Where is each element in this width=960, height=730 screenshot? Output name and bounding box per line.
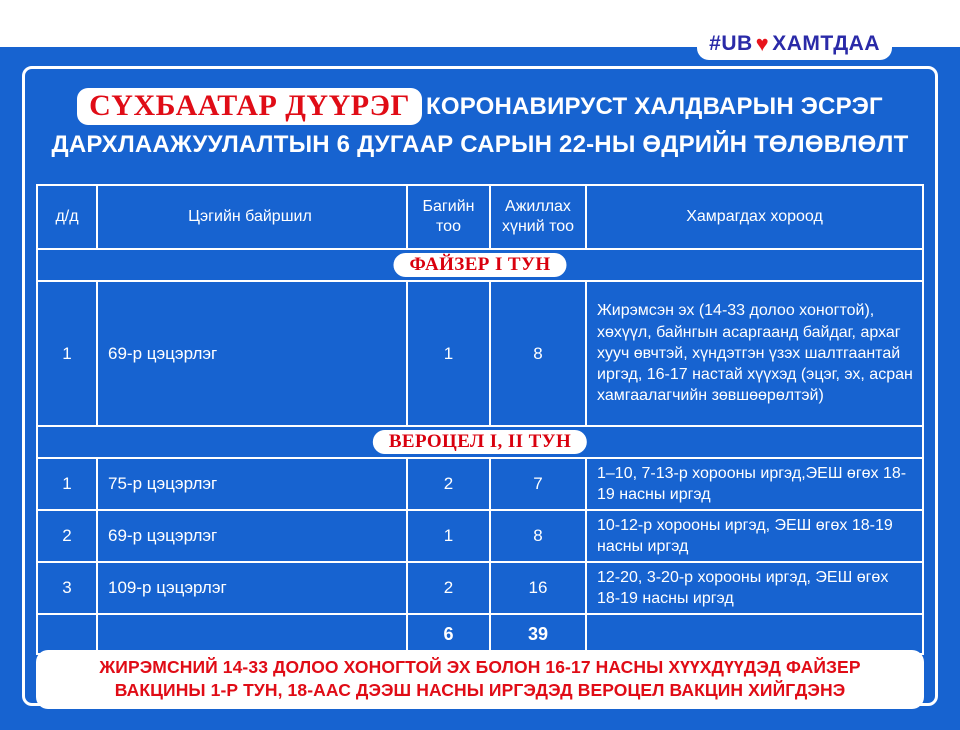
schedule-table: д/д Цэгийн байршил Багийн тоо Ажиллах хү… xyxy=(36,184,924,655)
row-location: 69-р цэцэрлэг xyxy=(96,282,406,425)
row-location: 75-р цэцэрлэг xyxy=(96,459,406,509)
row-staff: 8 xyxy=(489,282,585,425)
banner-line-1: ЖИРЭМСНИЙ 14-33 ДОЛОО ХОНОГТОЙ ЭХ БОЛОН … xyxy=(46,656,914,679)
row-staff: 8 xyxy=(489,511,585,561)
table-row: 1 75-р цэцэрлэг 2 7 1–10, 7-13-р хорооны… xyxy=(38,457,922,509)
hashtag-suffix: ХАМТДАА xyxy=(772,32,880,56)
header-team-count-line1: Багийн xyxy=(423,197,475,217)
header-staff-count-line2: хүний тоо xyxy=(502,217,574,237)
title-line-1: СҮХБААТАР ДҮҮРЭГ КОРОНАВИРУСТ ХАЛДВАРЫН … xyxy=(34,88,926,125)
table-header-row: д/д Цэгийн байршил Багийн тоо Ажиллах хү… xyxy=(38,186,922,248)
hashtag-badge: #UB ♥ ХАМТДАА xyxy=(697,29,892,60)
row-khoroo: 1–10, 7-13-р хорооны иргэд,ЭЕШ өгөх 18-1… xyxy=(585,459,922,509)
table-total-row: 6 39 xyxy=(38,613,922,653)
row-no: 1 xyxy=(38,459,96,509)
header-team-count-line2: тоо xyxy=(436,217,461,237)
row-team: 1 xyxy=(406,282,489,425)
total-khoroo xyxy=(585,615,922,653)
table-row: 3 109-р цэцэрлэг 2 16 12-20, 3-20-р хоро… xyxy=(38,561,922,613)
section-badge-pfizer: ФАЙЗЕР I ТУН xyxy=(393,253,566,278)
header-staff-count: Ажиллах хүний тоо xyxy=(489,186,585,248)
row-location: 109-р цэцэрлэг xyxy=(96,563,406,613)
header-staff-count-line1: Ажиллах xyxy=(505,197,571,217)
heart-icon: ♥ xyxy=(756,33,770,55)
bottom-notice-banner: ЖИРЭМСНИЙ 14-33 ДОЛОО ХОНОГТОЙ ЭХ БОЛОН … xyxy=(36,650,924,709)
row-no: 3 xyxy=(38,563,96,613)
section-header-verocell: ВЕРОЦЕЛ I, II ТУН xyxy=(38,425,922,457)
row-no: 1 xyxy=(38,282,96,425)
section-badge-verocell: ВЕРОЦЕЛ I, II ТУН xyxy=(373,430,587,455)
row-khoroo: 10-12-р хорооны иргэд, ЭЕШ өгөх 18-19 на… xyxy=(585,511,922,561)
title-line-2: ДАРХЛААЖУУЛАЛТЫН 6 ДУГААР САРЫН 22-НЫ ӨД… xyxy=(34,131,926,159)
row-staff: 16 xyxy=(489,563,585,613)
row-khoroo: Жирэмсэн эх (14-33 долоо хоногтой), хөхү… xyxy=(585,282,922,425)
header-location: Цэгийн байршил xyxy=(96,186,406,248)
hashtag-prefix: #UB xyxy=(709,32,753,56)
total-staff: 39 xyxy=(489,615,585,653)
total-location xyxy=(96,615,406,653)
page-title: СҮХБААТАР ДҮҮРЭГ КОРОНАВИРУСТ ХАЛДВАРЫН … xyxy=(34,88,926,159)
row-staff: 7 xyxy=(489,459,585,509)
row-location: 69-р цэцэрлэг xyxy=(96,511,406,561)
header-team-count: Багийн тоо xyxy=(406,186,489,248)
section-header-pfizer: ФАЙЗЕР I ТУН xyxy=(38,248,922,280)
title-line-1-rest: КОРОНАВИРУСТ ХАЛДВАРЫН ЭСРЭГ xyxy=(426,93,883,121)
table-row: 2 69-р цэцэрлэг 1 8 10-12-р хорооны иргэ… xyxy=(38,509,922,561)
row-no: 2 xyxy=(38,511,96,561)
row-team: 2 xyxy=(406,459,489,509)
total-team: 6 xyxy=(406,615,489,653)
poster-root: НИЙСЛЭЛИЙН ОНЦГОЙ КОМИСС #UB ♥ ХАМТДАА С… xyxy=(0,0,960,730)
district-badge: СҮХБААТАР ДҮҮРЭГ xyxy=(77,88,422,125)
row-team: 2 xyxy=(406,563,489,613)
row-team: 1 xyxy=(406,511,489,561)
row-khoroo: 12-20, 3-20-р хорооны иргэд, ЭЕШ өгөх 18… xyxy=(585,563,922,613)
header-no: д/д xyxy=(38,186,96,248)
total-no xyxy=(38,615,96,653)
header-khoroo: Хамрагдах хороод xyxy=(585,186,922,248)
banner-line-2: ВАКЦИНЫ 1-Р ТУН, 18-ААС ДЭЭШ НАСНЫ ИРГЭД… xyxy=(46,679,914,702)
table-row: 1 69-р цэцэрлэг 1 8 Жирэмсэн эх (14-33 д… xyxy=(38,280,922,425)
